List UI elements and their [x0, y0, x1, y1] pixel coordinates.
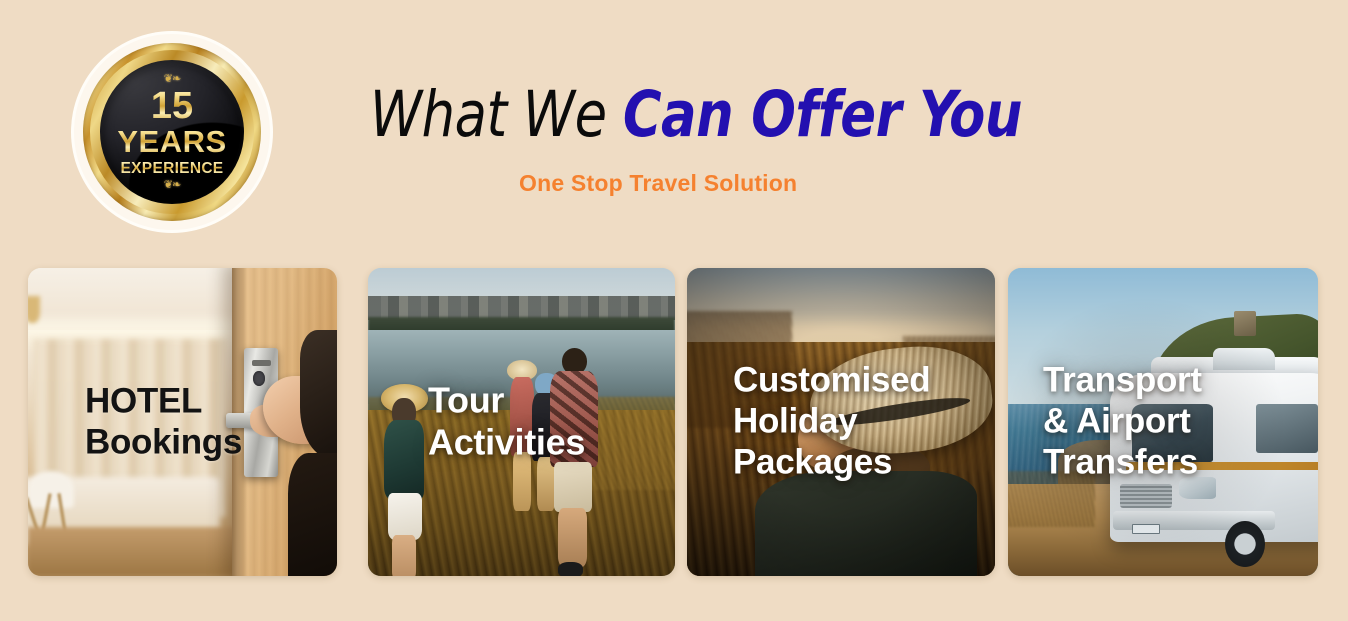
experience-badge: ❦❧ 15 YEARS EXPERIENCE ❦❧ — [74, 34, 270, 230]
caption-line: Transfers — [1043, 442, 1202, 483]
badge-ornament-top-icon: ❦❧ — [164, 74, 180, 84]
badge-number: 15 — [151, 87, 193, 125]
customised-holiday-packages-card[interactable]: Customised Holiday Packages — [687, 268, 995, 576]
caption-line: HOTEL — [85, 381, 242, 422]
page-title-plain: What We — [370, 78, 623, 151]
badge-caption: EXPERIENCE — [121, 161, 224, 177]
caption-line: Activities — [428, 422, 585, 464]
caption-line: Packages — [733, 442, 930, 483]
caption-line: Tour — [428, 380, 585, 422]
hotel-bookings-caption: HOTEL Bookings — [85, 381, 242, 464]
page-title-accent: Can Offer You — [623, 78, 1022, 151]
caption-line: & Airport — [1043, 402, 1202, 443]
tour-activities-caption: Tour Activities — [428, 380, 585, 465]
page-subtitle: One Stop Travel Solution — [519, 170, 797, 197]
hotel-bookings-card[interactable]: HOTEL Bookings — [28, 268, 337, 576]
badge-unit-label: YEARS — [117, 126, 226, 157]
customised-holiday-packages-caption: Customised Holiday Packages — [733, 361, 930, 484]
caption-line: Bookings — [85, 422, 242, 463]
page-title: What We Can Offer You — [370, 78, 1022, 151]
caption-line: Transport — [1043, 361, 1202, 402]
badge-inner-disc: ❦❧ 15 YEARS EXPERIENCE ❦❧ — [100, 60, 244, 204]
transport-airport-transfers-caption: Transport & Airport Transfers — [1043, 361, 1202, 484]
tour-activities-card[interactable]: Tour Activities — [368, 268, 675, 576]
caption-line: Holiday — [733, 402, 930, 443]
badge-ornament-bottom-icon: ❦❧ — [164, 180, 180, 190]
transport-airport-transfers-card[interactable]: Transport & Airport Transfers — [1008, 268, 1318, 576]
caption-line: Customised — [733, 361, 930, 402]
service-card-row: HOTEL Bookings Tour Activities — [28, 268, 1318, 576]
